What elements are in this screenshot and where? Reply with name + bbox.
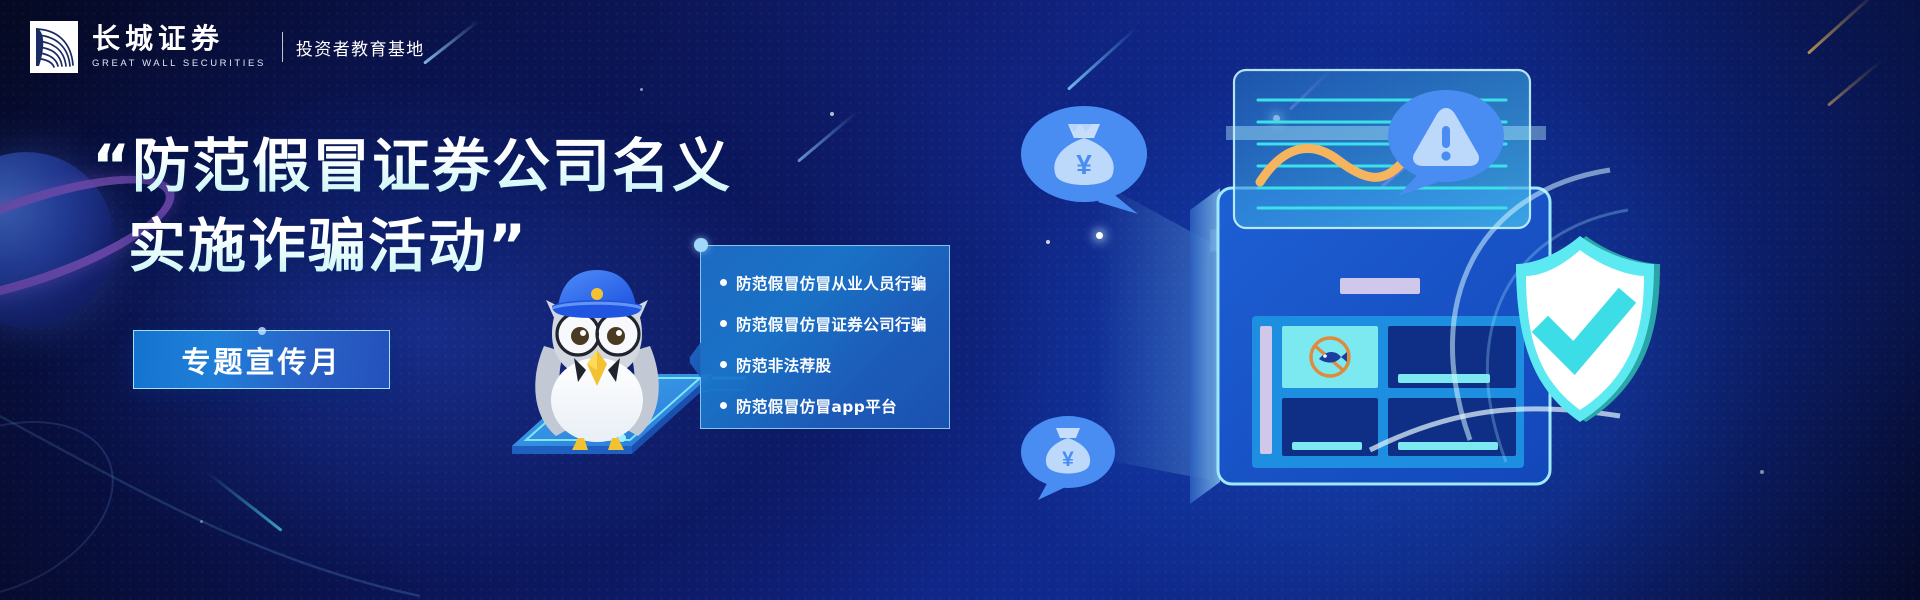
svg-text:¥: ¥ (1076, 149, 1092, 180)
warning-triangle-icon (1380, 86, 1508, 204)
headline-line-1: “防范假冒证券公司名义 (92, 126, 732, 206)
promo-banner: 长城证券 GREAT WALL SECURITIES 投资者教育基地 “防范假冒… (0, 0, 1920, 600)
campaign-cta-button[interactable]: 专题宣传月 (133, 330, 390, 389)
shield-check-icon (1508, 230, 1668, 430)
list-item: 防范非法荐股 (720, 344, 950, 385)
brand-name-cn: 长城证券 (92, 25, 266, 53)
money-bubble-bottom: ¥ (1020, 412, 1116, 509)
money-bag-icon: ¥ (1020, 412, 1116, 504)
brand-name-en: GREAT WALL SECURITIES (92, 59, 266, 69)
right-illustration: ¥ ¥ (1060, 60, 1620, 530)
headline: “防范假冒证券公司名义 实施诈骗活动” (92, 126, 732, 286)
great-wall-logo-mark (30, 21, 78, 73)
list-item: 防范假冒仿冒证券公司行骗 (720, 303, 950, 344)
list-item-label: 防范假冒仿冒app平台 (736, 395, 897, 417)
shield-badge (1508, 230, 1668, 435)
list-item: 防范假冒仿冒app平台 (720, 385, 950, 426)
bullet-dot-icon (720, 361, 727, 368)
key-points-panel: 防范假冒仿冒从业人员行骗 防范假冒仿冒证券公司行骗 防范非法荐股 防范假冒仿冒a… (700, 245, 950, 429)
money-bag-icon: ¥ (1020, 102, 1150, 222)
money-bubble-top: ¥ (1020, 102, 1150, 227)
brand-subtitle: 投资者教育基地 (296, 35, 425, 60)
bullet-dot-icon (720, 320, 727, 327)
cta-accent-dot (258, 327, 266, 335)
logo-divider (282, 32, 283, 62)
warning-bubble (1380, 86, 1508, 209)
owl-police-mascot (535, 270, 658, 450)
list-item-label: 防范假冒仿冒证券公司行骗 (736, 313, 927, 335)
key-points-list: 防范假冒仿冒从业人员行骗 防范假冒仿冒证券公司行骗 防范非法荐股 防范假冒仿冒a… (700, 245, 950, 426)
list-item-label: 防范假冒仿冒从业人员行骗 (736, 272, 927, 294)
list-item-label: 防范非法荐股 (736, 354, 831, 376)
cta-label: 专题宣传月 (181, 339, 341, 381)
svg-text:¥: ¥ (1062, 448, 1074, 471)
headline-line-2: 实施诈骗活动” (128, 206, 732, 286)
brand-logo[interactable]: 长城证券 GREAT WALL SECURITIES 投资者教育基地 (30, 21, 425, 73)
list-item: 防范假冒仿冒从业人员行骗 (720, 262, 950, 303)
bullet-dot-icon (720, 402, 727, 409)
